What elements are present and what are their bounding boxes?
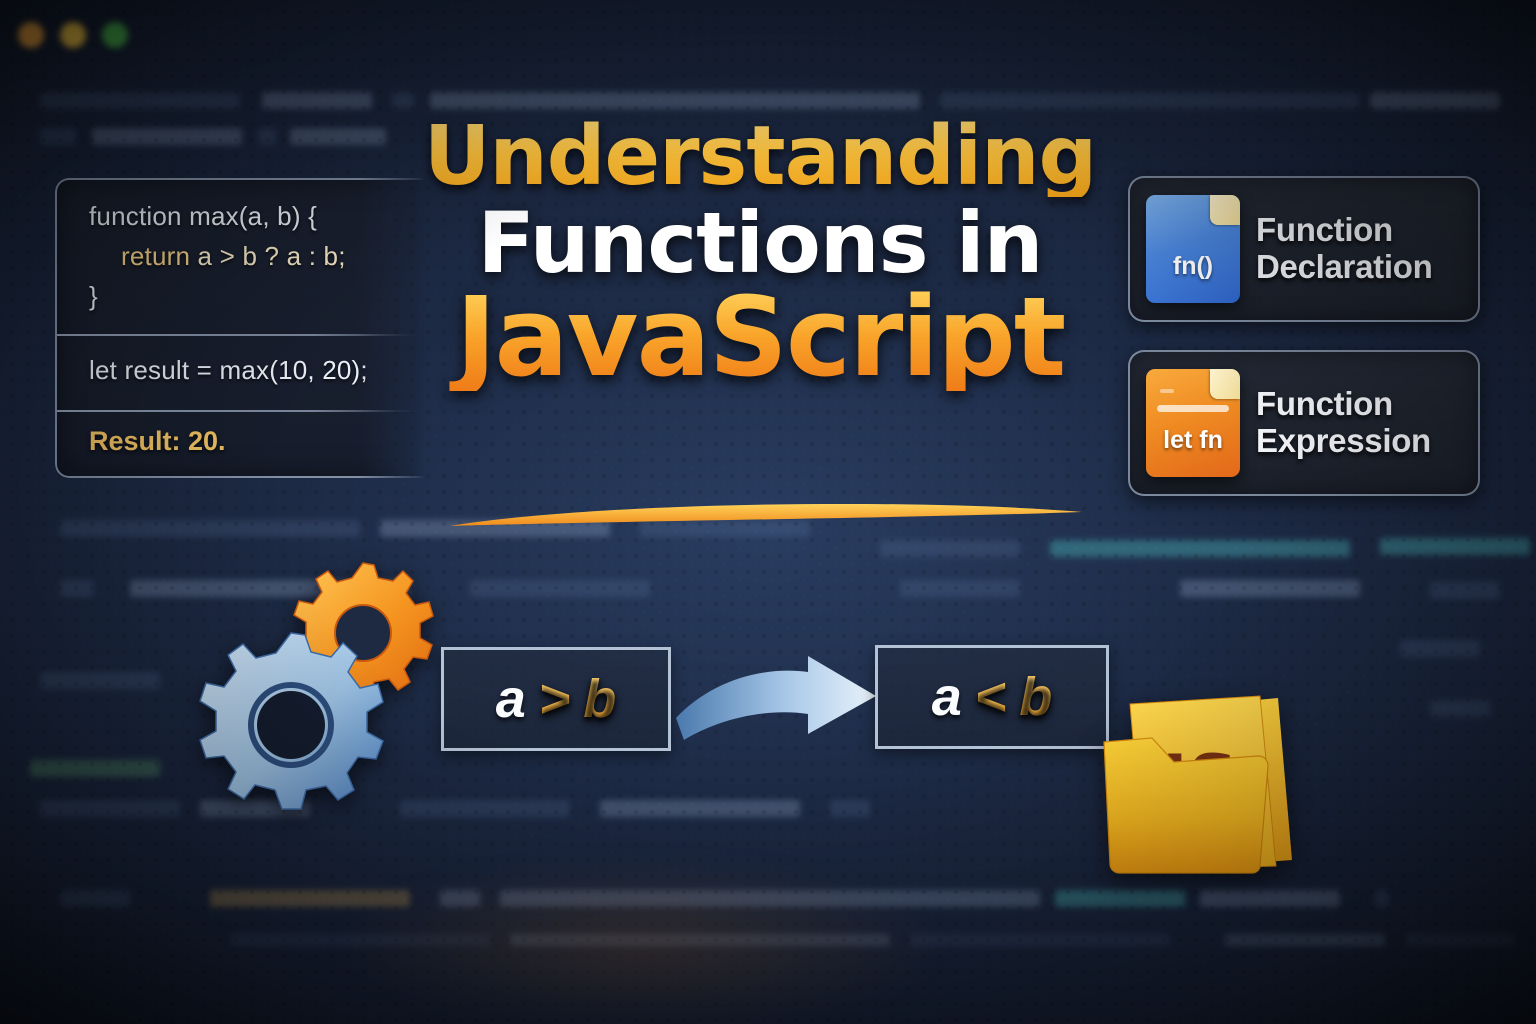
background-code-line — [1380, 538, 1530, 555]
poster-canvas: function max(a, b) { return a > b ? a : … — [0, 0, 1536, 1024]
title-line-3: JavaScript — [410, 285, 1110, 391]
code-expression: a > b ? a : b; — [198, 241, 346, 271]
background-code-line — [440, 890, 480, 907]
function-expression-doc-icon: let fn — [1146, 369, 1240, 477]
background-code-line — [910, 934, 1170, 946]
card-label-line-1: Function — [1256, 212, 1432, 249]
card-function-declaration[interactable]: fn() Function Declaration — [1128, 176, 1480, 322]
operator-greater-than: > — [539, 672, 571, 726]
background-code-line — [60, 520, 360, 537]
code-line: function max(a, b) { — [89, 196, 411, 236]
operator-less-than: < — [975, 670, 1007, 724]
code-text: function max(a, b) { — [89, 201, 317, 231]
background-code-line — [1405, 934, 1515, 946]
doc-fold-corner — [1210, 369, 1240, 399]
gear-large — [200, 633, 383, 809]
background-code-line — [1430, 582, 1500, 599]
result-text: Result: 20. — [89, 426, 411, 457]
transition-arrow-icon — [672, 650, 882, 760]
background-code-line — [470, 580, 650, 597]
background-code-line — [30, 760, 160, 777]
background-code-line — [1400, 640, 1480, 657]
doc-dash-line — [1160, 389, 1174, 393]
operand-a: a — [932, 670, 962, 724]
background-code-line — [880, 540, 1020, 557]
background-code-line — [290, 128, 386, 145]
call-row: let result = max(10, 20); — [57, 336, 425, 404]
background-code-line — [210, 890, 410, 907]
background-code-line — [392, 92, 414, 109]
background-code-line — [40, 92, 240, 109]
close-dot[interactable] — [18, 22, 44, 48]
result-row: Result: 20. — [57, 412, 425, 471]
background-code-line — [940, 92, 1360, 109]
doc-fold-corner — [1210, 195, 1240, 225]
operand-a: a — [496, 672, 526, 726]
background-code-line — [1370, 92, 1500, 109]
background-code-line — [40, 672, 160, 689]
background-code-line — [262, 92, 372, 109]
background-code-line — [1050, 540, 1350, 557]
comparison-box-right: a < b — [875, 645, 1109, 749]
js-folder-icon: JS — [1100, 670, 1430, 920]
card-function-expression[interactable]: let fn Function Expression — [1128, 350, 1480, 496]
code-call-line: let result = max(10, 20); — [89, 350, 411, 390]
background-code-line — [60, 890, 130, 907]
code-block: function max(a, b) { return a > b ? a : … — [57, 180, 425, 328]
title-line-1: Understanding — [410, 118, 1110, 197]
background-code-line — [900, 580, 1020, 597]
card-label: Function Declaration — [1256, 212, 1432, 286]
background-code-line — [1430, 700, 1490, 717]
card-label: Function Expression — [1256, 386, 1431, 460]
background-code-line — [60, 580, 94, 597]
card-label-line-2: Declaration — [1256, 249, 1432, 286]
page-title: Understanding Functions in JavaScript — [410, 118, 1110, 391]
background-code-line — [92, 128, 242, 145]
maximize-dot[interactable] — [102, 22, 128, 48]
code-text: } — [89, 281, 98, 311]
comparison-box-left: a > b — [441, 647, 671, 751]
background-code-line — [1225, 934, 1385, 946]
gears-icon — [195, 555, 460, 820]
code-line: return a > b ? a : b; — [89, 236, 411, 276]
background-code-line — [600, 800, 800, 817]
doc-tag-label: let fn — [1146, 426, 1240, 455]
background-code-line — [258, 128, 276, 145]
background-code-line — [430, 92, 920, 109]
function-declaration-doc-icon: fn() — [1146, 195, 1240, 303]
window-traffic-lights[interactable] — [18, 22, 128, 48]
background-code-line — [40, 800, 180, 817]
background-code-line — [510, 934, 890, 946]
background-code-line — [40, 128, 76, 145]
doc-rule-line — [1157, 405, 1229, 412]
operand-b: b — [583, 672, 616, 726]
background-code-line — [230, 934, 490, 946]
background-code-line — [1180, 580, 1360, 597]
doc-tag-label: fn() — [1146, 252, 1240, 281]
operand-b: b — [1019, 670, 1052, 724]
card-label-line-1: Function — [1256, 386, 1431, 423]
background-code-line — [500, 890, 1040, 907]
minimize-dot[interactable] — [60, 22, 86, 48]
title-swoosh-underline — [446, 496, 1086, 530]
code-keyword: return — [121, 241, 198, 271]
card-label-line-2: Expression — [1256, 423, 1431, 460]
background-code-line — [830, 800, 870, 817]
code-snippet-panel: function max(a, b) { return a > b ? a : … — [55, 178, 425, 478]
title-line-2: Functions in — [410, 203, 1110, 284]
code-line: } — [89, 276, 411, 316]
